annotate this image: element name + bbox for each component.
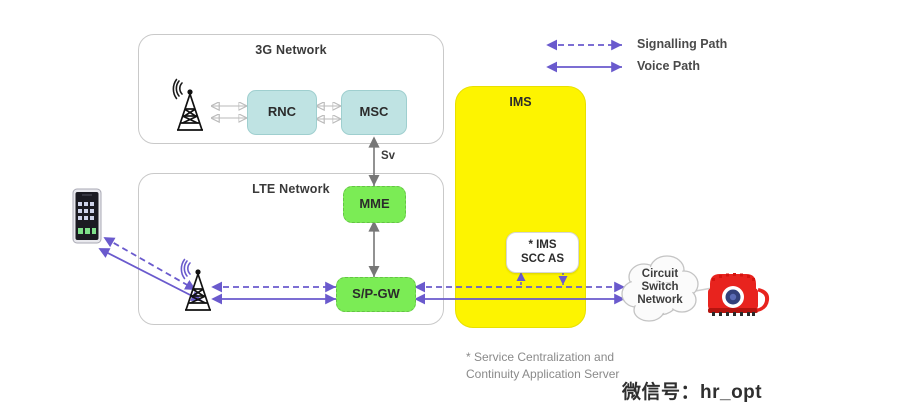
landline-telephone-icon bbox=[702, 264, 770, 322]
cell-tower-icon bbox=[168, 78, 216, 136]
legend-signalling-text: Signalling Path bbox=[637, 37, 727, 51]
diagram-canvas: 3G Network LTE Network IMS bbox=[0, 0, 921, 416]
node-rnc-label: RNC bbox=[268, 105, 296, 120]
mobile-phone-icon bbox=[70, 188, 104, 244]
legend-voice-text: Voice Path bbox=[637, 59, 700, 73]
link-sccas-signalling-stubs bbox=[521, 272, 563, 285]
node-ims-scc-as-label-line2: SCC AS bbox=[521, 253, 564, 266]
watermark-text: 微信号：hr_opt bbox=[622, 382, 762, 403]
network-cloud-label: Circuit Switch Network bbox=[619, 268, 701, 308]
watermark-wechat-id: 微信号：hr_opt bbox=[622, 377, 762, 404]
interface-label-sv: Sv bbox=[381, 150, 395, 162]
node-msc[interactable]: MSC bbox=[341, 90, 407, 135]
cloud-label-line2: Switch bbox=[619, 281, 701, 294]
node-spgw-label: S/P-GW bbox=[352, 287, 400, 302]
node-mme[interactable]: MME bbox=[343, 186, 406, 223]
cloud-label-line1: Circuit bbox=[619, 268, 701, 281]
node-ims-scc-as[interactable]: * IMS SCC AS bbox=[506, 232, 579, 273]
node-rnc[interactable]: RNC bbox=[247, 90, 317, 135]
interface-sv-text: Sv bbox=[381, 150, 395, 162]
legend-signalling-label: Signalling Path bbox=[637, 37, 727, 51]
connections-layer bbox=[0, 0, 921, 416]
link-rnc-msc bbox=[317, 106, 341, 119]
node-mme-label: MME bbox=[359, 197, 389, 212]
legend-voice-label: Voice Path bbox=[637, 59, 700, 73]
node-msc-label: MSC bbox=[360, 105, 389, 120]
enodeb-tower-icon bbox=[176, 258, 224, 316]
node-ims-scc-as-label-line1: * IMS bbox=[528, 239, 556, 252]
node-spgw[interactable]: S/P-GW bbox=[336, 277, 416, 312]
network-cloud-icon: Circuit Switch Network bbox=[619, 252, 701, 326]
cloud-label-line3: Network bbox=[619, 294, 701, 307]
link-3gtower-rnc bbox=[212, 106, 247, 118]
